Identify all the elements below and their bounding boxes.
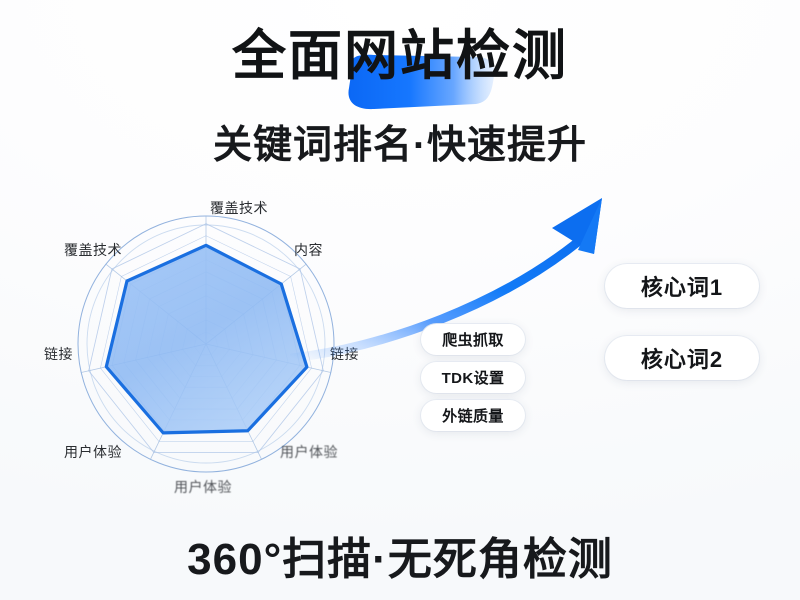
tag-pill-tdk[interactable]: TDK设置 [421,362,525,393]
poster-canvas: 全面网站检测 关键词排名·快速提升 覆盖技术内容链接用户体验用户体验用户体验链接… [0,0,800,600]
tag-label: TDK设置 [442,367,505,388]
page-subtitle: 关键词排名·快速提升 [0,114,800,170]
tag-label: 爬虫抓取 [442,329,504,350]
title-part-highlight: 网站 [344,28,456,85]
page-title: 全面网站检测 [0,28,800,85]
title-part-before: 全面 [232,28,344,85]
radar-chart: 覆盖技术内容链接用户体验用户体验用户体验链接覆盖技术 [48,192,388,512]
page-footline: 360°扫描·无死角检测 [0,523,800,587]
radar-axis-label-6: 链接 [44,344,73,364]
radar-series [106,245,307,433]
radar-axis-label-4: 用户体验 [174,477,232,497]
radar-axis-label-5: 用户体验 [64,442,122,462]
keyword-label: 核心词2 [641,342,723,374]
radar-axis-label-2: 链接 [330,344,359,364]
keyword-pill-2[interactable]: 核心词2 [605,336,759,380]
radar-axis-label-3: 用户体验 [280,442,338,462]
keyword-pill-1[interactable]: 核心词1 [605,264,759,308]
radar-axis-label-7: 覆盖技术 [64,240,122,260]
title-part-after: 检测 [456,28,568,85]
tag-pill-backlink[interactable]: 外链质量 [421,400,525,431]
keyword-label: 核心词1 [641,270,723,302]
radar-axis-label-1: 内容 [294,240,323,260]
radar-axis-label-0: 覆盖技术 [210,198,268,218]
tag-label: 外链质量 [442,405,504,426]
tag-pill-crawl[interactable]: 爬虫抓取 [421,324,525,355]
